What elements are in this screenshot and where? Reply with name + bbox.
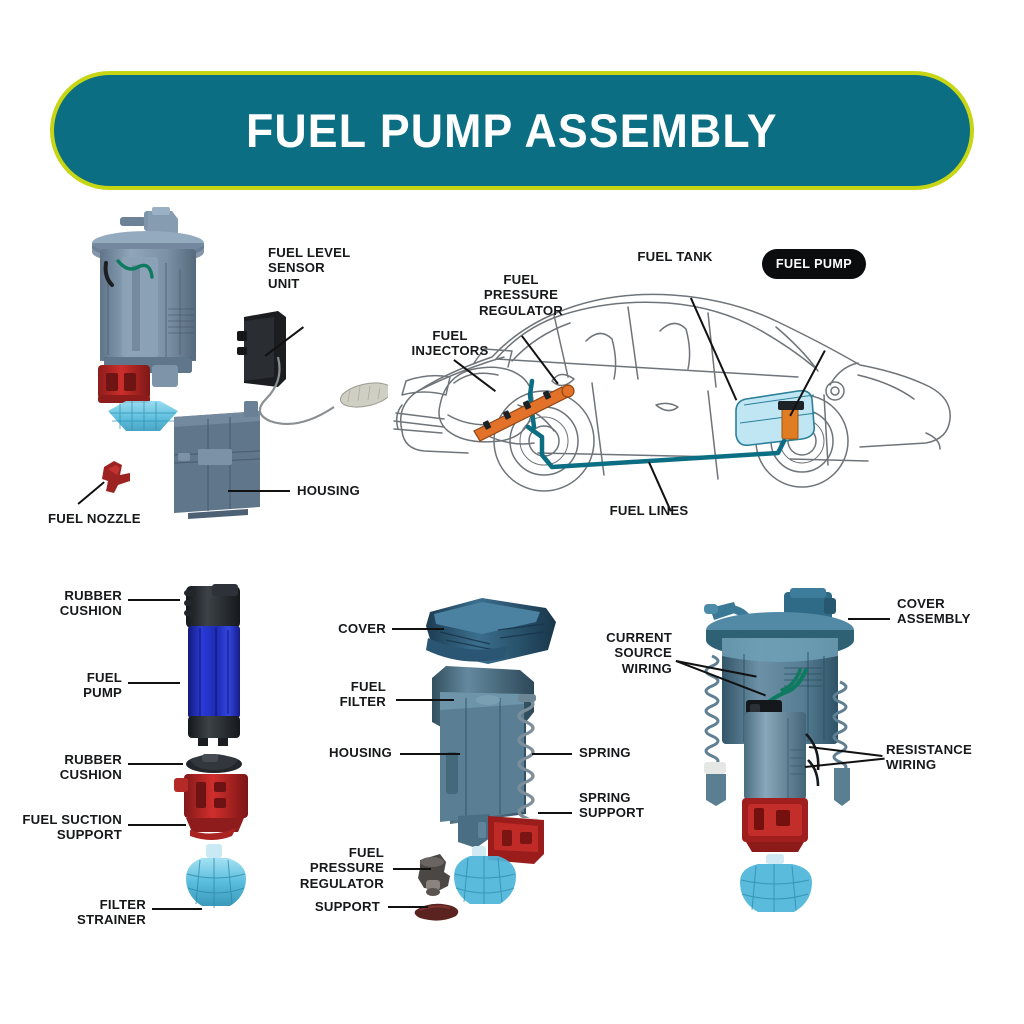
leader-cover (392, 628, 444, 630)
label-filter-strainer: FILTER STRAINER (36, 897, 146, 928)
leader-rubber-cushion-lower (128, 763, 183, 765)
leader-fuel-suction-support (128, 824, 186, 826)
left-spring-collar-part (704, 762, 726, 774)
label-rubber-cushion-lower: RUBBER CUSHION (12, 752, 122, 783)
rubber-cushion-lower-part (186, 754, 242, 773)
fuel-pressure-regulator-part (418, 854, 450, 896)
fuel-pump-module-part (92, 207, 204, 431)
fuel-nozzle-part (102, 461, 130, 493)
panel-complete-assembly (688, 582, 878, 930)
label-cover: COVER (280, 621, 386, 636)
label-current-source-wiring: CURRENT SOURCE WIRING (588, 630, 672, 676)
fuel-suction-support-part (174, 774, 248, 840)
label-spring: SPRING (579, 745, 669, 760)
leader-fuel-pressure-regulator-mid (393, 868, 431, 870)
label-resistance-wiring: RESISTANCE WIRING (886, 742, 990, 773)
label-fuel-suction-support: FUEL SUCTION SUPPORT (2, 812, 122, 843)
label-fuel-injectors: FUEL INJECTORS (408, 328, 492, 359)
red-base-part (742, 798, 808, 852)
red-connector-part (98, 365, 150, 403)
panel-pump-core-exploded (160, 578, 280, 928)
complete-assembly-illustration (688, 582, 878, 930)
leader-cover-assembly (848, 618, 890, 620)
panel-vehicle-overview (378, 255, 968, 515)
label-fuel-filter: FUEL FILTER (286, 679, 386, 710)
label-cover-assembly: COVER ASSEMBLY (897, 596, 997, 627)
label-fuel-lines: FUEL LINES (603, 503, 695, 518)
label-rubber-cushion-top: RUBBER CUSHION (12, 588, 122, 619)
fuel-tank-part (736, 391, 816, 446)
leader-housing-mid (400, 753, 460, 755)
rubber-cushion-top-part (184, 584, 240, 628)
label-spring-support: SPRING SUPPORT (579, 790, 669, 821)
leader-housing (228, 490, 290, 492)
label-fuel-pressure-regulator-vehicle: FUEL PRESSURE REGULATOR (475, 272, 567, 318)
pump-core-illustration (160, 578, 280, 928)
fuel-injectors-part (474, 385, 574, 441)
right-spring-foot-part (834, 768, 850, 806)
left-spring-foot-part (706, 774, 726, 806)
leader-fuel-pump-core (128, 682, 180, 684)
housing-exploded-illustration (406, 590, 586, 930)
label-support: SUPPORT (272, 899, 380, 914)
pump-foot-part (188, 716, 240, 746)
page-header-banner: FUEL PUMP ASSEMBLY (50, 71, 974, 190)
fuel-pump-badge-text: FUEL PUMP (776, 257, 852, 271)
page-title: FUEL PUMP ASSEMBLY (246, 103, 778, 158)
label-fuel-nozzle: FUEL NOZZLE (48, 511, 141, 526)
leader-filter-strainer (152, 908, 202, 910)
label-fuel-tank: FUEL TANK (630, 249, 720, 264)
spring-top-cap-part (518, 694, 536, 702)
leader-rubber-cushion-top (128, 599, 180, 601)
vehicle-overview-illustration (378, 255, 968, 515)
label-housing-mid: HOUSING (286, 745, 392, 760)
fuel-pump-body-part (188, 626, 240, 718)
assembly-strainer-part (740, 854, 812, 912)
panel-housing-exploded (406, 590, 586, 930)
filter-strainer-part (108, 401, 178, 431)
leader-support (388, 906, 428, 908)
filter-strainer-part (186, 844, 246, 908)
leader-spring (532, 753, 572, 755)
label-housing-module: HOUSING (297, 483, 360, 498)
label-fuel-pressure-regulator-mid: FUEL PRESSURE REGULATOR (272, 845, 384, 891)
leader-spring-support (538, 812, 572, 814)
label-fuel-pump-core: FUEL PUMP (12, 670, 122, 701)
housing-part (174, 401, 260, 519)
inner-pump-part (744, 712, 806, 800)
cover-part (426, 598, 556, 664)
leader-fuel-filter (396, 699, 454, 701)
fuel-pump-assembly-poster: FUEL PUMP ASSEMBLY (0, 0, 1024, 1024)
label-fuel-pump-badge: FUEL PUMP (762, 249, 866, 279)
label-fuel-level-sensor-unit: FUEL LEVEL SENSOR UNIT (268, 245, 350, 291)
